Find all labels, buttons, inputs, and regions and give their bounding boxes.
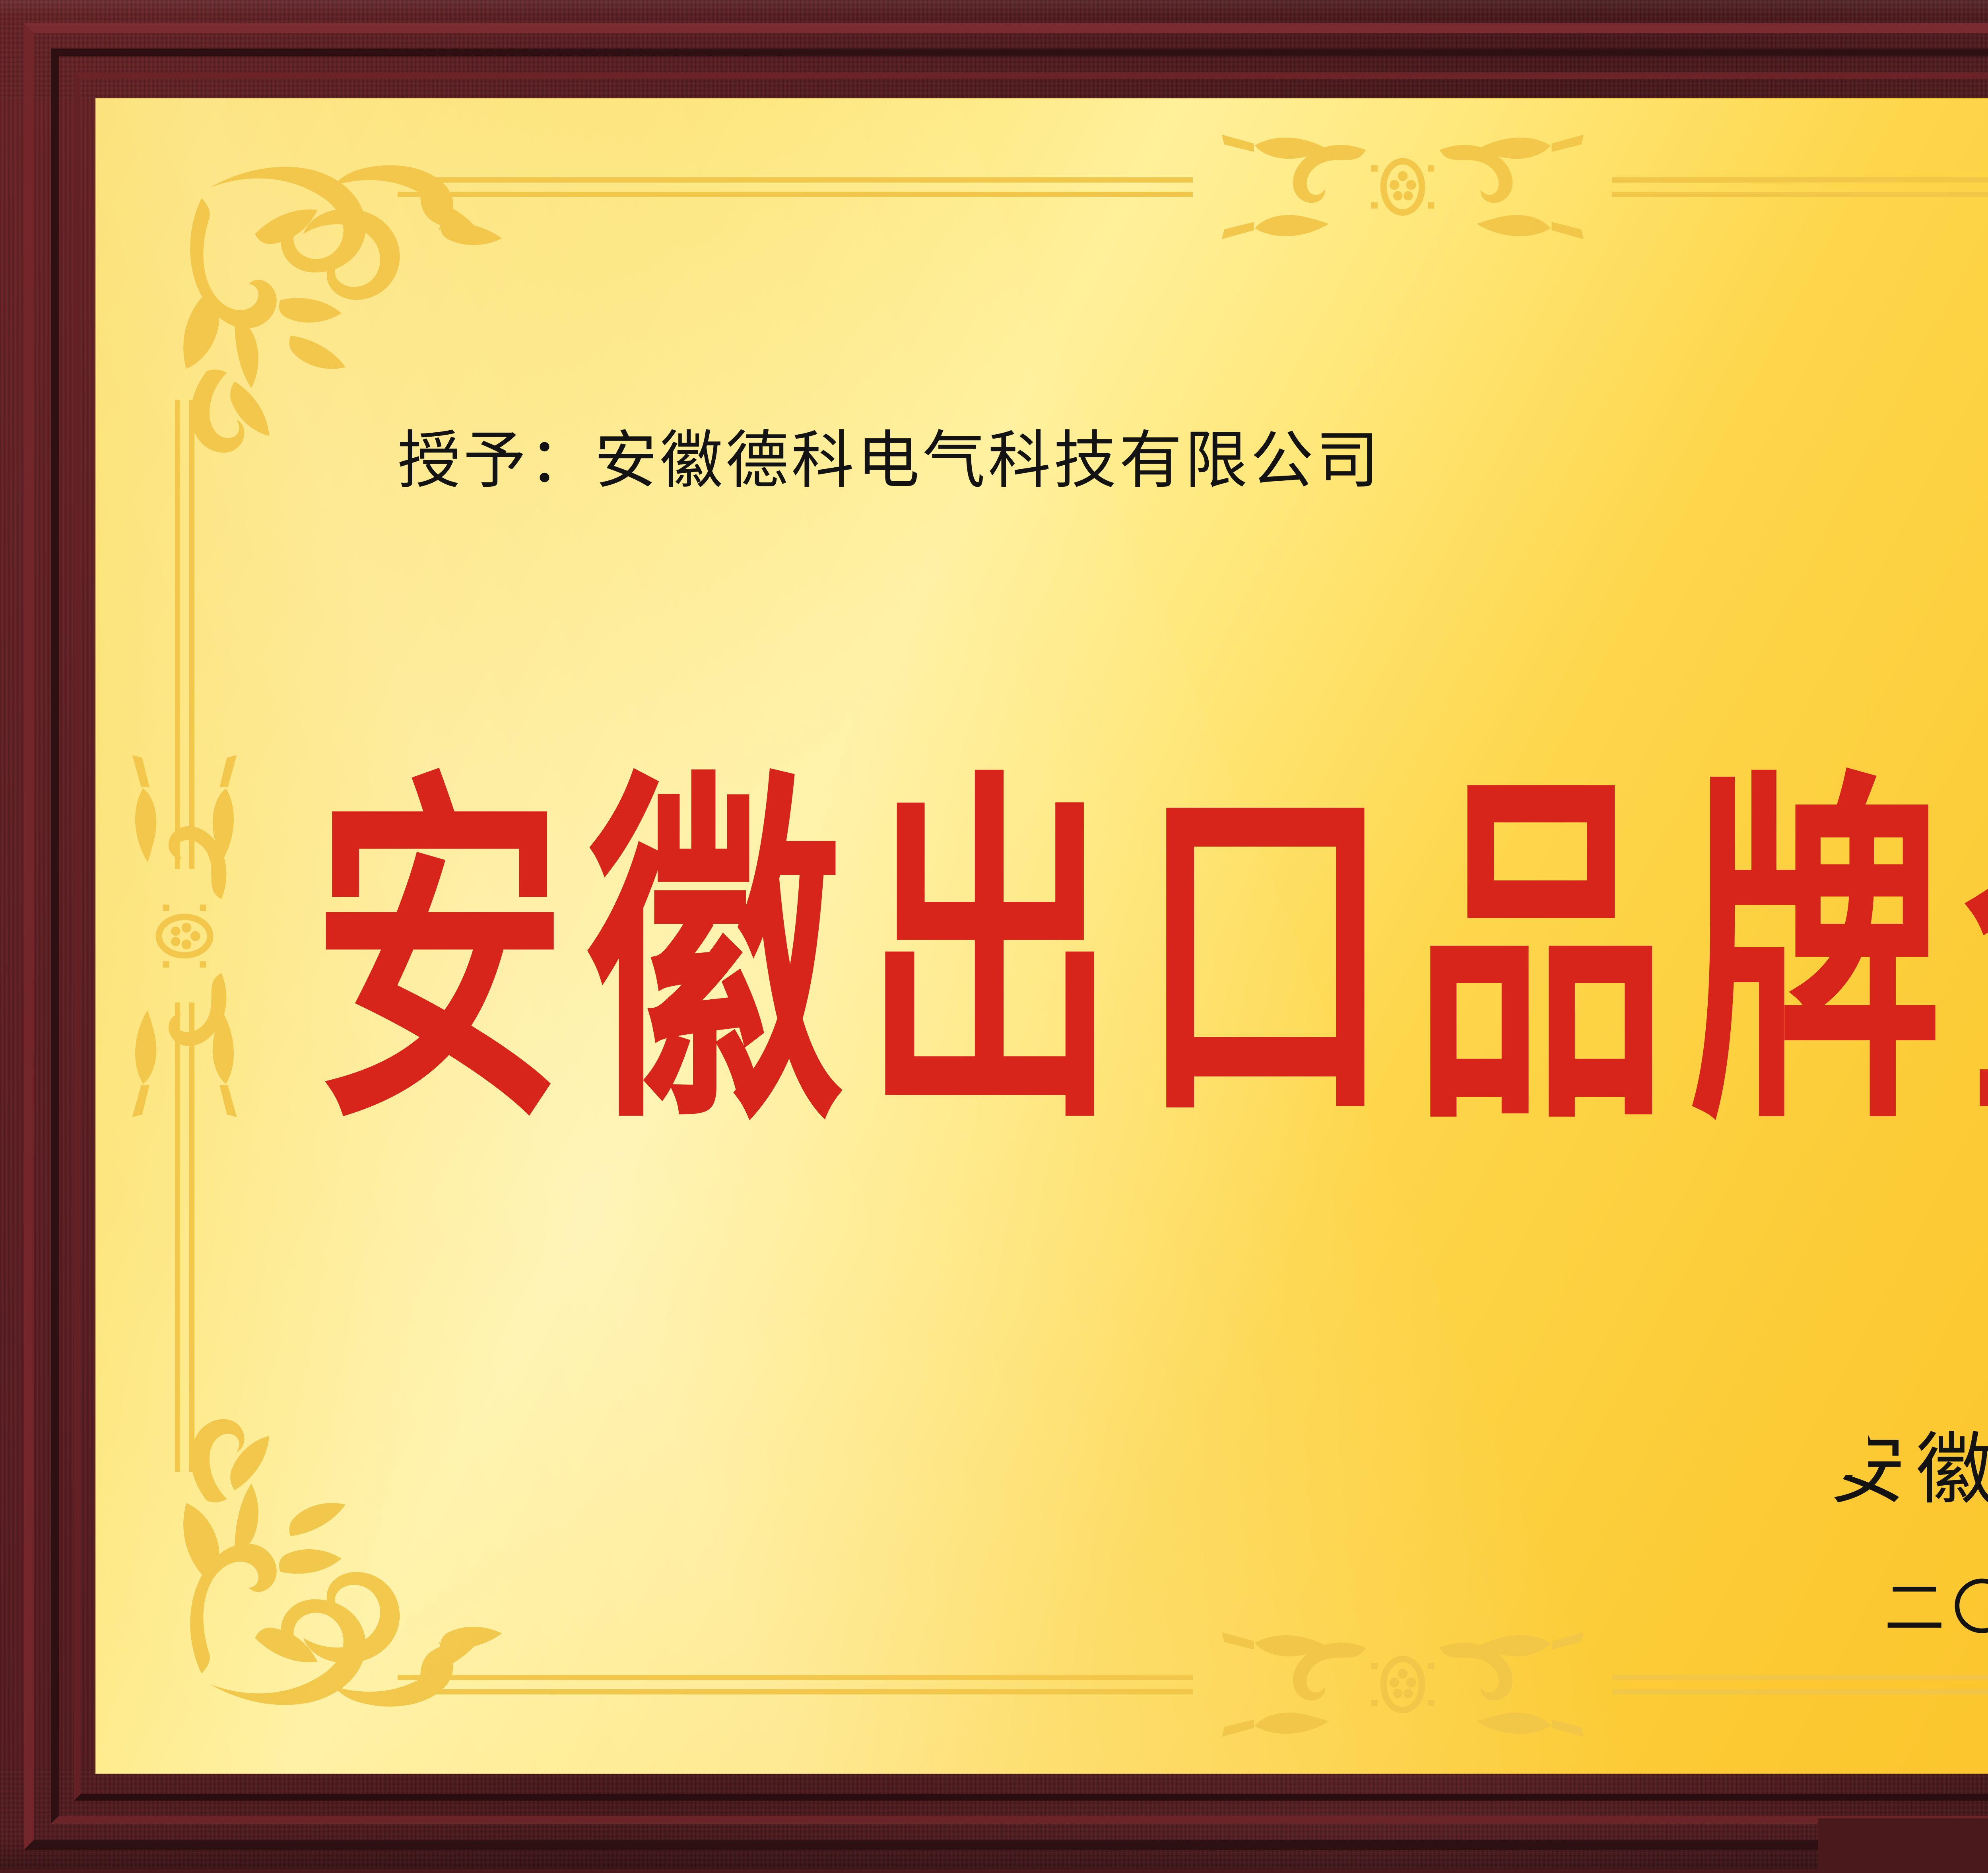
plaque-title: 安徽出口品牌企业 (95, 774, 1988, 1139)
gold-panel: 授予：安徽德科电气科技有限公司 安徽出口品牌企业 安徽省商务厅 二〇二二年二月 (95, 98, 1988, 1774)
award-plaque: 授予：安徽德科电气科技有限公司 安徽出口品牌企业 安徽省商务厅 二〇二二年二月 (0, 0, 1988, 1873)
awardee-line: 授予：安徽德科电气科技有限公司 (398, 429, 1382, 492)
issue-date: 二〇二二年二月 (1877, 1578, 1988, 1638)
issuing-authority: 安徽省商务厅 (1817, 1431, 1988, 1509)
